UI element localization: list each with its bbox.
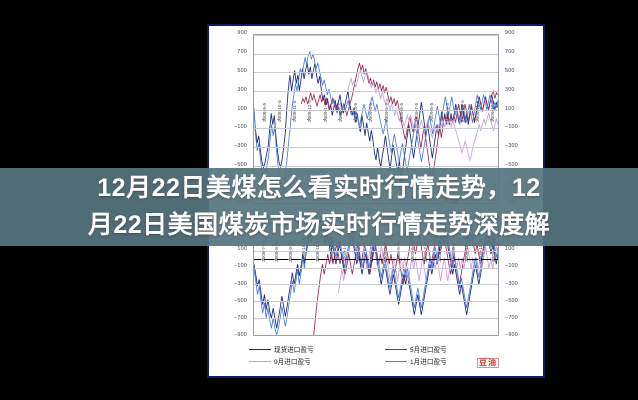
y-axis-tick-label: 500: [505, 69, 515, 74]
y-axis-tick-label: −900: [234, 333, 247, 338]
gridline: [254, 54, 498, 55]
x-axis-tick: [429, 119, 432, 120]
legend-color-swatch: [249, 349, 271, 350]
x-axis-tick: [451, 259, 454, 260]
gridline: [254, 268, 498, 269]
gridline: [254, 72, 498, 73]
legend-label: 现货进口盈亏: [274, 344, 314, 354]
y-axis-tick-label: 100: [237, 247, 247, 252]
legend-color-swatch: [249, 361, 271, 362]
y-axis-tick-label: −100: [505, 264, 518, 269]
gridline: [254, 301, 498, 302]
y-axis-tick-label: −300: [505, 282, 518, 287]
y-axis-tick-label: 900: [237, 31, 247, 36]
x-axis-tick: [301, 259, 304, 260]
x-axis-tick: [288, 259, 291, 260]
x-axis-tick: [261, 259, 264, 260]
x-axis-tick: [423, 259, 426, 260]
legend-item: 现货进口盈亏: [249, 344, 369, 354]
x-axis-tick: [369, 259, 372, 260]
gridline: [254, 35, 498, 36]
x-axis-tick: [262, 119, 265, 120]
y-axis-tick-label: 500: [237, 69, 247, 74]
y-axis-tick-label: 700: [237, 50, 247, 55]
page-title-line-1: 12月22日美煤怎么看实时行情走势，12: [97, 170, 540, 207]
gridline: [254, 147, 498, 148]
x-axis-tick: [414, 119, 417, 120]
y-axis-tick-label: −100: [505, 125, 518, 130]
y-axis-tick-label: 300: [237, 88, 247, 93]
x-axis-tick: [445, 119, 448, 120]
y-axis-tick-label: 700: [505, 50, 515, 55]
y-axis-tick-label: 100: [505, 107, 515, 112]
gridline: [254, 128, 498, 129]
x-axis-tick: [342, 259, 345, 260]
x-axis-tick: [384, 119, 387, 120]
y-axis-tick-label: −300: [234, 144, 247, 149]
x-axis-tick: [274, 259, 277, 260]
y-axis-tick-label: −700: [234, 316, 247, 321]
x-axis-tick: [460, 119, 463, 120]
chart-legend: 现货进口盈亏5月进口盈亏9月进口盈亏1月进口盈亏 豆油: [209, 342, 543, 376]
y-axis-tick-label: −500: [505, 299, 518, 304]
x-axis-tick: [277, 119, 280, 120]
legend-item: 9月进口盈亏: [249, 356, 369, 366]
x-axis-tick: [338, 119, 341, 120]
x-axis-tick: [353, 119, 356, 120]
legend-label: 1月进口盈亏: [410, 356, 447, 366]
gridline: [254, 335, 498, 336]
page-title-line-2: 月22日美国煤炭市场实时行情走势深度解: [88, 207, 550, 244]
x-axis-tick: [475, 119, 478, 120]
y-axis-tick-label: −500: [234, 299, 247, 304]
x-axis-tick: [323, 119, 326, 120]
x-axis-tick: [292, 119, 295, 120]
x-axis-tick: [307, 119, 310, 120]
x-axis-tick: [356, 259, 359, 260]
y-axis-tick-label: −100: [234, 264, 247, 269]
x-axis-tick: [315, 259, 318, 260]
x-axis-tick: [437, 259, 440, 260]
gridline: [254, 284, 498, 285]
legend-label: 5月进口盈亏: [410, 344, 447, 354]
x-axis-tick: [490, 119, 493, 120]
x-axis-tick: [464, 259, 467, 260]
y-axis-tick-label: −700: [505, 316, 518, 321]
gridline: [254, 166, 498, 167]
y-axis-tick-label: −300: [234, 282, 247, 287]
y-axis-tick-label: −900: [505, 333, 518, 338]
legend-color-swatch: [385, 349, 407, 350]
title-overlay-band: 12月22日美煤怎么看实时行情走势，12 月22日美国煤炭市场实时行情走势深度解: [0, 168, 638, 246]
x-axis-tick: [410, 259, 413, 260]
x-axis-tick: [396, 259, 399, 260]
x-axis-tick: [491, 259, 494, 260]
x-axis-tick: [329, 259, 332, 260]
x-axis-tick: [399, 119, 402, 120]
x-axis-tick: [383, 259, 386, 260]
y-axis-tick-label: 900: [505, 31, 515, 36]
gridline: [254, 318, 498, 319]
y-axis-tick-label: −100: [234, 125, 247, 130]
x-axis-tick: [368, 119, 371, 120]
x-axis-tick: [478, 259, 481, 260]
y-axis-tick-label: −300: [505, 144, 518, 149]
gridline: [254, 91, 498, 92]
screenshot-stage: 900700500300100−100−300−500−700−900 9007…: [0, 0, 638, 400]
legend-grid: 现货进口盈亏5月进口盈亏9月进口盈亏1月进口盈亏: [249, 344, 505, 366]
legend-label: 9月进口盈亏: [274, 356, 311, 366]
y-axis-tick-label: 300: [505, 88, 515, 93]
legend-item: 5月进口盈亏: [385, 344, 505, 354]
y-axis-tick-label: 100: [237, 107, 247, 112]
legend-color-swatch: [385, 361, 407, 362]
watermark-soybean-oil: 豆油: [477, 358, 499, 368]
y-axis-tick-label: 100: [505, 247, 515, 252]
